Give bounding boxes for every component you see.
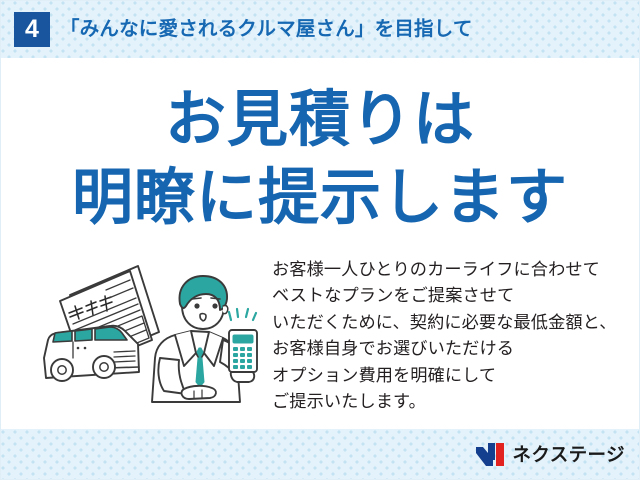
header-band: 4 「みんなに愛されるクルマ屋さん」を目指して [0, 0, 640, 58]
headline: お見積りは 明瞭に提示します [0, 80, 640, 236]
van-illustration [44, 326, 139, 381]
nextage-n-mark-icon [475, 442, 506, 467]
headline-line-2: 明瞭に提示します [0, 158, 640, 236]
body-line-1: お客様一人ひとりのカーライフに合わせて [272, 256, 622, 282]
footer-band: ネクステージ [0, 429, 640, 480]
body-line-6: ご提示いたします。 [272, 388, 622, 414]
step-number-badge: 4 [14, 12, 50, 47]
calculator-icon [229, 330, 257, 372]
body-line-5: オプション費用を明確にして [272, 362, 622, 388]
sparkle-icon [229, 309, 256, 320]
header-title: 「みんなに愛されるクルマ屋さん」を目指して [60, 13, 473, 46]
body-line-2: ベストなプランをご提案させて [272, 282, 622, 308]
body-line-3: いただくために、契約に必要な最低金額と、 [272, 309, 622, 335]
advertisement-slide: 4 「みんなに愛されるクルマ屋さん」を目指して お見積りは 明瞭に提示します お… [0, 0, 640, 480]
headline-line-1: お見積りは [0, 80, 640, 158]
body-copy: お客様一人ひとりのカーライフに合わせて ベストなプランをご提案させて いただくた… [272, 256, 622, 414]
content-panel: お見積りは 明瞭に提示します お客様一人ひとりのカーライフに合わせて ベストなプ… [0, 58, 640, 429]
illustration-salesperson-quote-van [34, 254, 270, 422]
brand-logo: ネクステージ [475, 440, 625, 468]
body-line-4: お客様自身でお選びいただける [272, 335, 622, 361]
brand-logo-text: ネクステージ [513, 441, 625, 467]
